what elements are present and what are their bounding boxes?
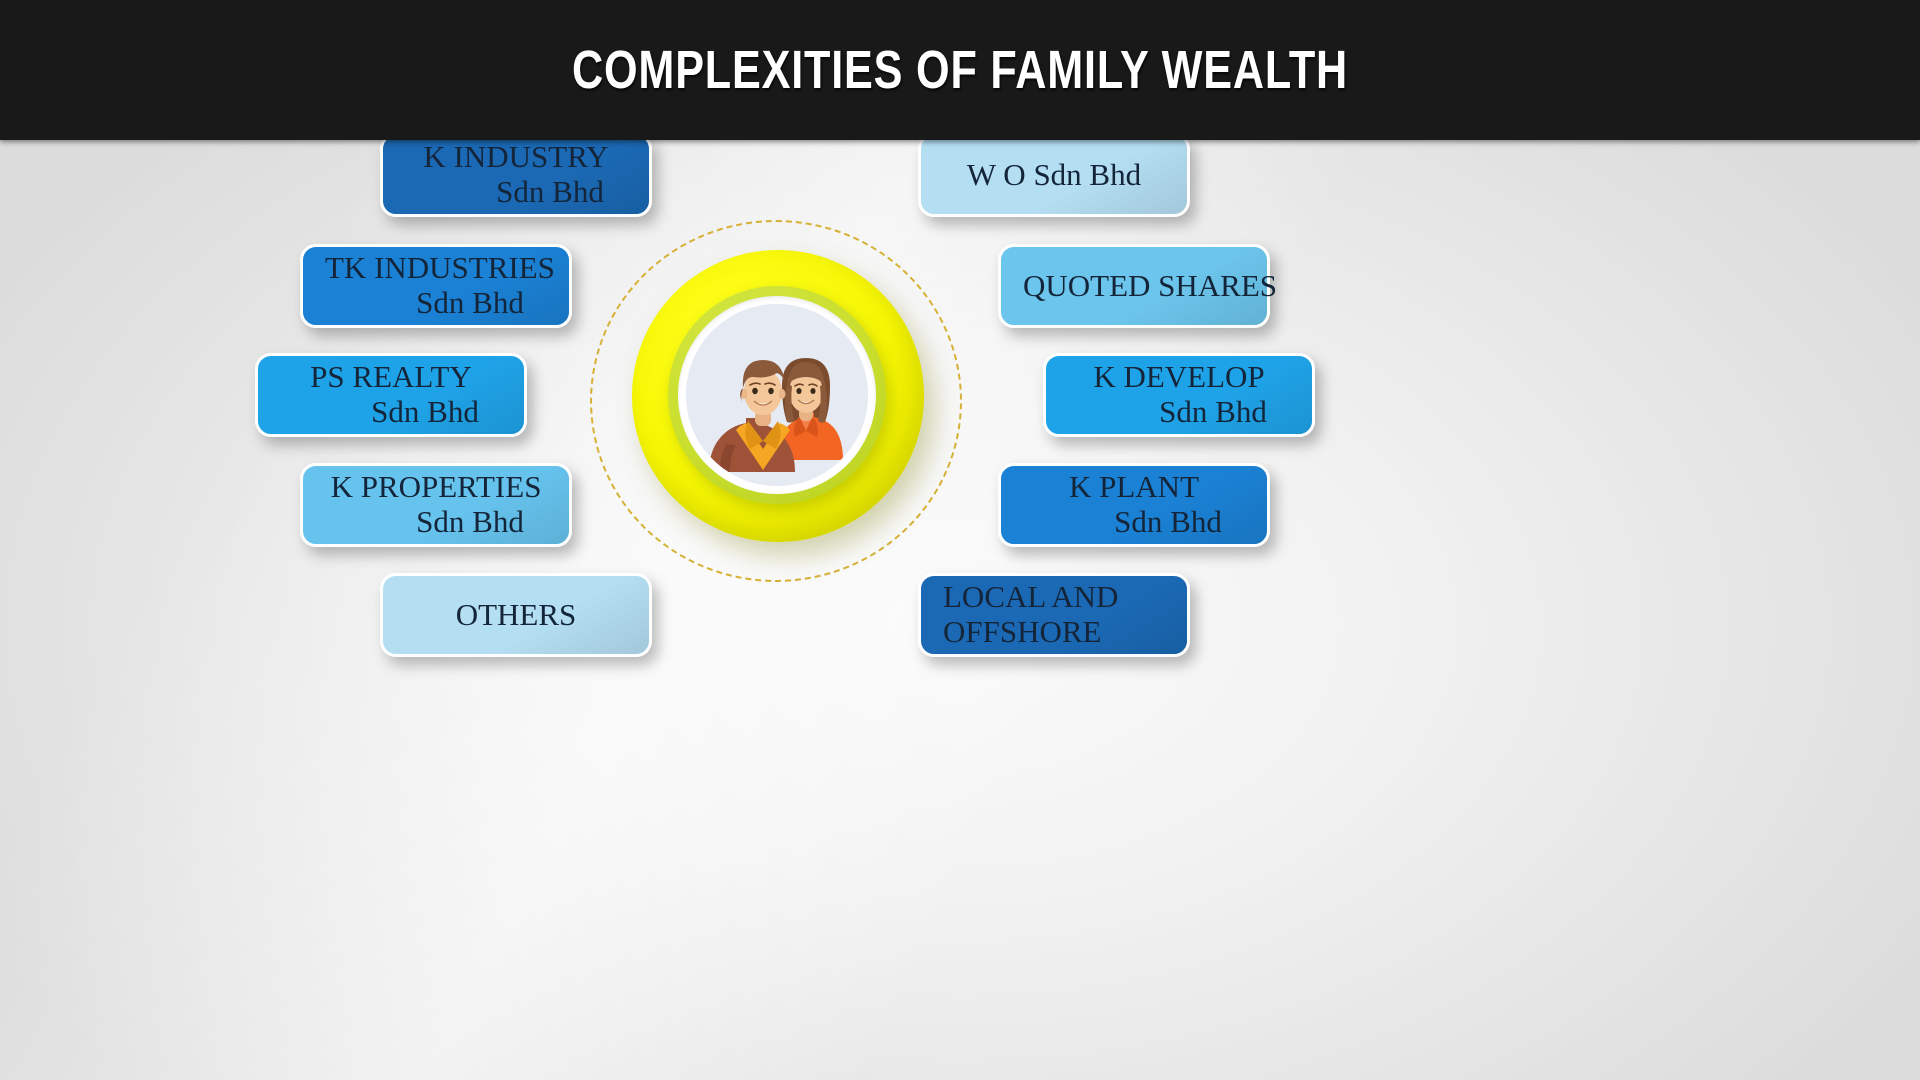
couple-avatar	[686, 304, 868, 486]
center-medallion	[606, 228, 950, 572]
node-line2: Sdn Bhd	[1102, 395, 1324, 430]
node-line1: QUOTED SHARES	[1023, 269, 1245, 304]
title-bar: COMPLEXITIES OF FAMILY WEALTH	[0, 0, 1920, 140]
node-k-properties[interactable]: K PROPERTIESSdn Bhd	[300, 463, 572, 547]
node-ps-realty[interactable]: PS REALTYSdn Bhd	[255, 353, 527, 437]
node-line2: Sdn Bhd	[1057, 505, 1279, 540]
node-line1: TK INDUSTRIES	[325, 251, 547, 286]
node-line1: W O Sdn Bhd	[943, 158, 1165, 193]
node-line1: LOCAL AND	[943, 580, 1165, 615]
node-w-o-sdn-bhd[interactable]: W O Sdn Bhd	[918, 133, 1190, 217]
node-local-and-offshore[interactable]: LOCAL ANDOFFSHORE	[918, 573, 1190, 657]
node-line2: Sdn Bhd	[359, 505, 581, 540]
node-line1: OTHERS	[405, 598, 627, 633]
node-line2: Sdn Bhd	[439, 175, 661, 210]
page-title: COMPLEXITIES OF FAMILY WEALTH	[572, 39, 1348, 101]
node-line1: K DEVELOP	[1068, 360, 1290, 395]
node-k-develop[interactable]: K DEVELOPSdn Bhd	[1043, 353, 1315, 437]
node-line2: Sdn Bhd	[359, 286, 581, 321]
node-line2: Sdn Bhd	[314, 395, 536, 430]
node-line1: K PLANT	[1023, 470, 1245, 505]
node-line1: PS REALTY	[280, 360, 502, 395]
node-line2: OFFSHORE	[943, 615, 1165, 650]
node-line1: K PROPERTIES	[325, 470, 547, 505]
node-others[interactable]: OTHERS	[380, 573, 652, 657]
node-k-plant[interactable]: K PLANTSdn Bhd	[998, 463, 1270, 547]
node-tk-industries[interactable]: TK INDUSTRIESSdn Bhd	[300, 244, 572, 328]
slide-canvas: COMPLEXITIES OF FAMILY WEALTH K INDUSTRY…	[0, 0, 1920, 1080]
node-layer: K INDUSTRYSdn BhdTK INDUSTRIESSdn BhdPS …	[0, 0, 1920, 1080]
node-k-industry[interactable]: K INDUSTRYSdn Bhd	[380, 133, 652, 217]
node-quoted-shares[interactable]: QUOTED SHARES	[998, 244, 1270, 328]
node-line1: K INDUSTRY	[405, 140, 627, 175]
